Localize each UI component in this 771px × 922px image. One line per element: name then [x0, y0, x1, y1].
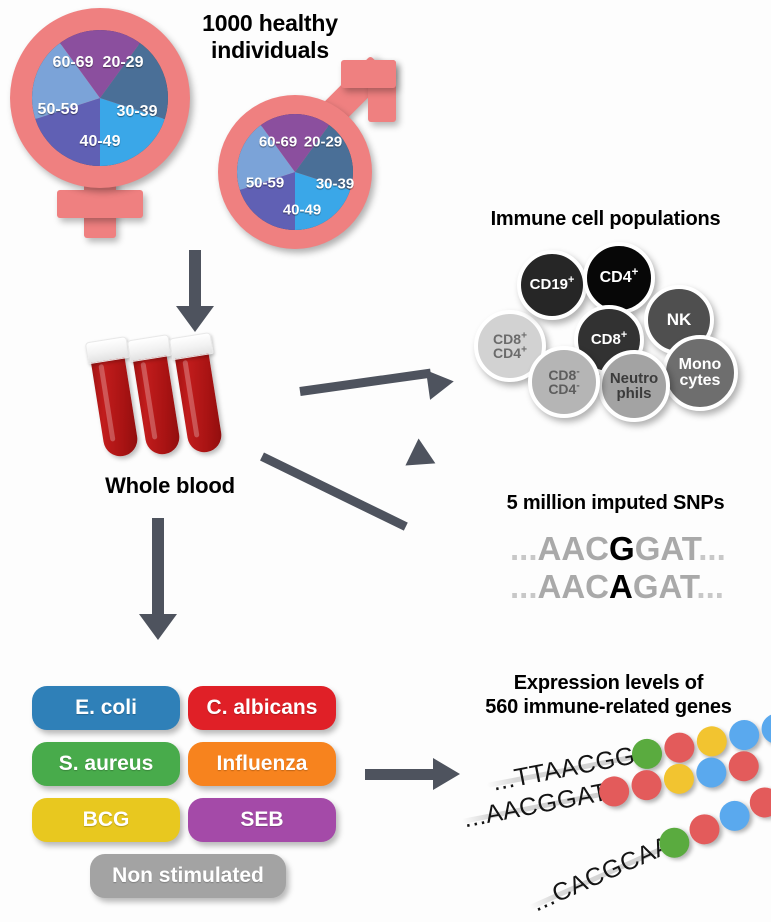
- pie-label-40-49: 40-49: [283, 202, 321, 219]
- cell-cd8neg-cd4neg: CD8- CD4-: [528, 346, 600, 418]
- pie-label-50-59: 50-59: [246, 175, 284, 192]
- cell-neutrophils: Neutro phils: [598, 350, 670, 422]
- stimulus-label: Influenza: [216, 752, 307, 776]
- strand-bead: [694, 755, 729, 790]
- stimulus-label: C. albicans: [207, 696, 318, 720]
- stimulus-label: E. coli: [75, 696, 137, 720]
- pie-label-30-39: 30-39: [316, 176, 354, 193]
- cell-label-line1: Neutro: [610, 371, 658, 386]
- stimulus-label: SEB: [240, 808, 283, 832]
- stimulus-c-albicans[interactable]: C. albicans: [188, 686, 336, 730]
- snp-leading-dots: ...: [510, 568, 538, 605]
- strand-sequence: ...CACGCAA: [528, 831, 676, 918]
- strand-bead: [661, 761, 696, 796]
- pie-label-60-69: 60-69: [53, 54, 94, 72]
- expression-title-line2: 560 immune-related genes: [446, 696, 771, 720]
- cell-label: CD19+: [530, 277, 575, 292]
- female-stem-cross: [57, 190, 143, 218]
- pie-label-60-69: 60-69: [259, 134, 297, 151]
- cell-cd4: CD4+: [583, 242, 655, 314]
- snp-suffix: GAT: [633, 568, 697, 605]
- pie-label-40-49: 40-49: [80, 133, 121, 151]
- stimulus-label: BCG: [83, 808, 130, 832]
- cell-label-line1: CD8-: [548, 368, 579, 382]
- cohort-title: 1000 healthy individuals: [170, 10, 370, 64]
- snp-prefix: AAC: [538, 568, 610, 605]
- snp-allele-2: ...AACAGAT...: [510, 568, 724, 606]
- male-symbol: 20-29 30-39 40-49 50-59 60-69: [208, 60, 418, 250]
- expression-title: Expression levels of 560 immune-related …: [446, 672, 771, 719]
- cell-label-line2: CD4-: [548, 382, 579, 396]
- cell-label-line2: phils: [616, 386, 651, 401]
- snp-allele-1: ...AACGGAT...: [510, 530, 726, 568]
- arrow-blood-to-immune: [300, 370, 470, 410]
- cell-label: CD4+: [600, 270, 639, 286]
- snp-trailing-dots: ...: [698, 530, 726, 567]
- snp-variant-allele: G: [609, 530, 635, 567]
- cell-label-line1: Mono: [679, 357, 722, 373]
- snp-leading-dots: ...: [510, 530, 538, 567]
- female-symbol: 20-29 30-39 40-49 50-59 60-69: [10, 8, 190, 238]
- stimulus-label: S. aureus: [59, 752, 154, 776]
- stimuli-group: E. coli C. albicans S. aureus Influenza …: [32, 686, 342, 898]
- male-arrow-head-horizontal: [341, 60, 396, 88]
- tube-body: [132, 349, 182, 457]
- blood-tubes-group: [100, 330, 280, 465]
- figure-canvas: 1000 healthy individuals 20-29 30-39 40-…: [0, 0, 771, 922]
- pie-label-20-29: 20-29: [304, 134, 342, 151]
- whole-blood-label: Whole blood: [60, 473, 280, 499]
- arrow-blood-to-snps: [262, 452, 462, 562]
- strand-bead: [726, 749, 761, 784]
- cell-label-line2: CD4+: [493, 346, 527, 360]
- pie-label-30-39: 30-39: [117, 103, 158, 121]
- tube-body: [90, 351, 140, 459]
- stimulus-seb[interactable]: SEB: [188, 798, 336, 842]
- snp-trailing-dots: ...: [696, 568, 724, 605]
- cell-label: CD8+: [591, 332, 627, 347]
- stimulus-s-aureus[interactable]: S. aureus: [32, 742, 180, 786]
- strand-bead: [629, 768, 664, 803]
- tube-body: [174, 347, 224, 455]
- snp-variant-allele: A: [609, 568, 633, 605]
- stimulus-e-coli[interactable]: E. coli: [32, 686, 180, 730]
- immune-cells-group: CD8+ CD4+ CD19+ CD4+ CD8+ NK Mono cytes …: [450, 240, 770, 420]
- stimulus-non-stimulated[interactable]: Non stimulated: [90, 854, 286, 898]
- stimulus-influenza[interactable]: Influenza: [188, 742, 336, 786]
- cohort-title-line1: 1000 healthy: [170, 10, 370, 37]
- strand-bead: [759, 711, 771, 746]
- pie-label-50-59: 50-59: [38, 101, 79, 119]
- cell-monocytes: Mono cytes: [662, 335, 738, 411]
- cell-label: NK: [667, 311, 692, 328]
- cell-cd19: CD19+: [517, 250, 587, 320]
- stimulus-label: Non stimulated: [112, 864, 264, 888]
- pie-label-20-29: 20-29: [103, 54, 144, 72]
- stimulus-bcg[interactable]: BCG: [32, 798, 180, 842]
- snp-prefix: AAC: [538, 530, 610, 567]
- immune-title: Immune cell populations: [440, 208, 771, 232]
- expression-title-line1: Expression levels of: [446, 672, 771, 696]
- snps-title: 5 million imputed SNPs: [460, 492, 771, 516]
- cell-label-line2: cytes: [680, 373, 721, 389]
- snp-suffix: GAT: [635, 530, 699, 567]
